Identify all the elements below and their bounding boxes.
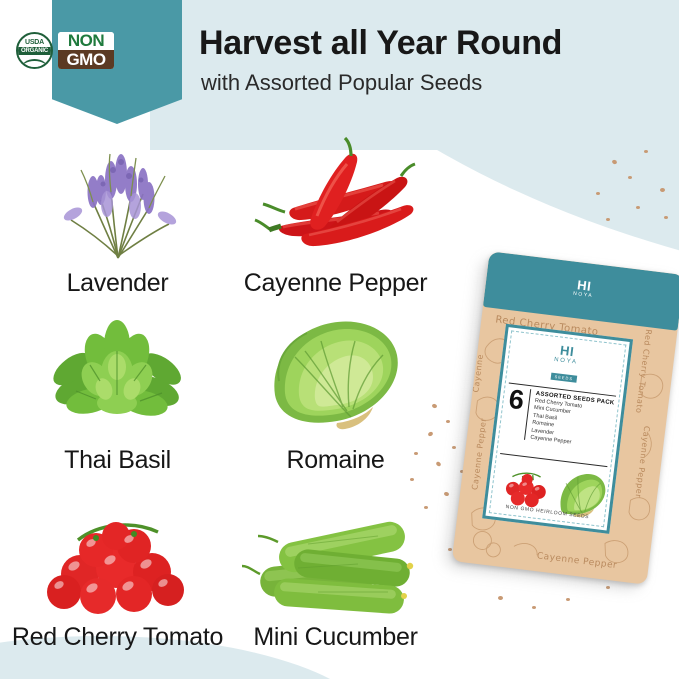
produce-label: Cayenne Pepper bbox=[218, 269, 453, 298]
thai-basil-icon bbox=[0, 311, 235, 437]
produce-label: Red Cherry Tomato bbox=[0, 623, 235, 652]
non-gmo-line1: NON bbox=[58, 32, 114, 50]
produce-label: Romaine bbox=[218, 446, 453, 475]
packet-inner-label: HI NOYA SEEDS 6 ASSORTED SEEDS PACK Red … bbox=[482, 324, 633, 534]
produce-item-cayenne-pepper: Cayenne Pepper bbox=[218, 130, 453, 306]
packet-body: HI NOYA Red Cherry Tomato Red Cherry Tom… bbox=[452, 251, 679, 585]
page-title: Harvest all Year Round bbox=[199, 24, 562, 63]
produce-label: Mini Cucumber bbox=[218, 623, 453, 652]
produce-label: Lavender bbox=[0, 269, 235, 298]
produce-grid: Lavender bbox=[0, 130, 470, 660]
produce-item-mini-cucumber: Mini Cucumber bbox=[218, 484, 453, 660]
certification-badges: USDA ORGANIC NON GMO bbox=[0, 32, 130, 69]
usda-label: USDA bbox=[25, 39, 44, 46]
non-gmo-line2: GMO bbox=[58, 50, 114, 69]
page-subtitle: with Assorted Popular Seeds bbox=[201, 70, 482, 96]
non-gmo-badge: NON GMO bbox=[58, 32, 114, 69]
romaine-lettuce-icon bbox=[218, 311, 453, 437]
produce-item-thai-basil: Thai Basil bbox=[0, 307, 235, 483]
cayenne-pepper-icon bbox=[218, 134, 453, 260]
product-infographic: USDA ORGANIC NON GMO Harvest all Year Ro… bbox=[0, 0, 679, 679]
label-brand-tag: SEEDS bbox=[550, 373, 577, 383]
usda-organic-seal: USDA ORGANIC bbox=[16, 32, 53, 69]
cherry-tomato-icon bbox=[0, 488, 235, 614]
seed-contents-list: ASSORTED SEEDS PACK Red Cherry Tomato Mi… bbox=[530, 389, 615, 452]
usda-organic-band: ORGANIC bbox=[18, 47, 51, 55]
seed-packet: HI NOYA Red Cherry Tomato Red Cherry Tom… bbox=[452, 251, 679, 585]
mini-cucumber-icon bbox=[218, 488, 453, 614]
lavender-plant-icon bbox=[0, 134, 235, 260]
produce-item-red-cherry-tomato: Red Cherry Tomato bbox=[0, 484, 235, 660]
produce-label: Thai Basil bbox=[0, 446, 235, 475]
usda-arc-shape bbox=[21, 59, 48, 69]
produce-item-lavender: Lavender bbox=[0, 130, 235, 306]
produce-item-romaine: Romaine bbox=[218, 307, 453, 483]
